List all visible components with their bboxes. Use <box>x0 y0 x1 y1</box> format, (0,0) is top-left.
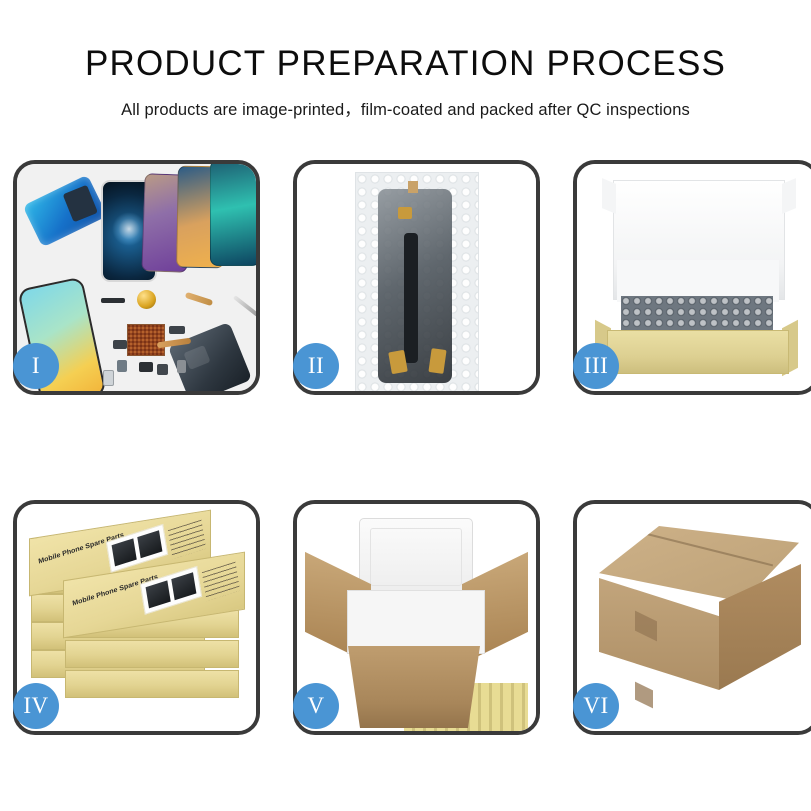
carton-body-icon <box>339 646 489 728</box>
page-title: PRODUCT PREPARATION PROCESS <box>0 0 811 84</box>
component-chip-icon <box>117 360 127 372</box>
stacked-box-icon <box>65 670 239 698</box>
process-step-panel-3[interactable]: III <box>573 160 811 395</box>
step-badge-6: VI <box>573 683 619 729</box>
process-step-panel-4[interactable]: Mobile Phone Spare Parts Mobile Phone Sp… <box>13 500 260 735</box>
box-spec-text-lines <box>168 520 206 560</box>
step-badge-3: III <box>573 343 619 389</box>
component-chip-icon <box>157 364 168 375</box>
tweezers-icon <box>233 295 256 317</box>
component-chip-icon <box>113 340 127 349</box>
box-product-photo-icon <box>140 566 202 615</box>
page-subtitle: All products are image-printed，film-coat… <box>0 84 811 120</box>
process-step-panel-2[interactable]: II <box>293 160 540 395</box>
step-badge-1: I <box>13 343 59 389</box>
box-spec-text-lines <box>202 562 240 602</box>
component-chip-icon <box>169 326 185 334</box>
carton-tape-icon <box>635 682 653 709</box>
tape-tab-icon <box>408 181 418 193</box>
step-badge-4: IV <box>13 683 59 729</box>
component-chip-icon <box>103 370 114 386</box>
phone-teal-icon <box>210 164 256 266</box>
flex-cable-icon <box>185 292 213 306</box>
process-step-panel-6[interactable]: VI <box>573 500 811 735</box>
stacked-box-icon <box>65 640 239 668</box>
component-chip-icon <box>101 298 125 303</box>
copper-chip-grid-icon <box>127 324 165 356</box>
foam-lid-icon <box>359 518 473 596</box>
inner-box-body-icon <box>607 330 789 374</box>
box-stack: Mobile Phone Spare Parts Mobile Phone Sp… <box>25 518 253 726</box>
step-badge-2: II <box>293 343 339 389</box>
step-badge-5: V <box>293 683 339 729</box>
gold-connector-icon <box>398 207 412 219</box>
gold-component-icon <box>137 290 156 309</box>
page-header: PRODUCT PREPARATION PROCESS All products… <box>0 0 811 120</box>
foam-liner-icon <box>347 590 485 654</box>
component-chip-icon <box>139 362 153 372</box>
component-chip-icon <box>177 360 186 373</box>
bubble-wrap-contents-icon <box>621 296 773 334</box>
process-step-panel-1[interactable]: I <box>13 160 260 395</box>
flex-cable-icon <box>404 233 418 363</box>
process-steps-grid: I II III <box>13 160 803 735</box>
bubble-wrap-bag-icon <box>355 172 479 391</box>
process-step-panel-5[interactable]: V <box>293 500 540 735</box>
screen-protector-film-icon <box>23 175 108 248</box>
carton-front-face-icon <box>599 578 719 690</box>
